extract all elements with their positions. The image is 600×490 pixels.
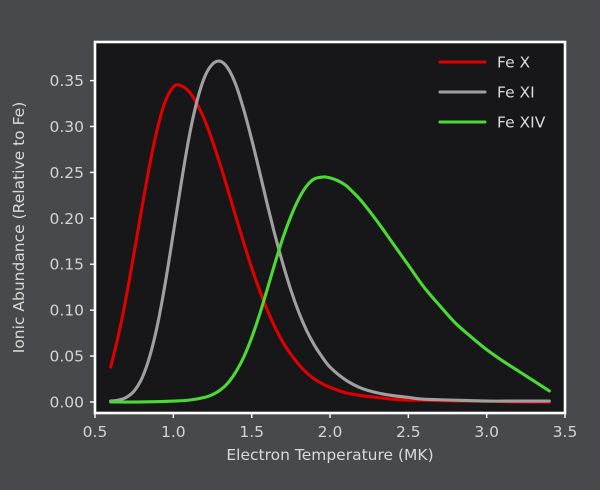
chart-figure: 0.51.01.52.02.53.03.50.000.050.100.150.2…: [0, 0, 600, 490]
x-axis-title: Electron Temperature (MK): [226, 446, 433, 464]
legend-label-fe-xi[interactable]: Fe XI: [497, 84, 535, 102]
y-tick-label: 0.15: [49, 256, 84, 274]
x-tick-label: 3.5: [553, 423, 578, 441]
x-tick-label: 3.0: [474, 423, 499, 441]
y-axis-title: Ionic Abundance (Relative to Fe): [10, 102, 28, 354]
x-tick-label: 1.0: [161, 423, 186, 441]
legend-label-fe-x[interactable]: Fe X: [497, 54, 531, 72]
x-tick-label: 2.5: [396, 423, 421, 441]
x-tick-label: 2.0: [318, 423, 343, 441]
legend-label-fe-xiv[interactable]: Fe XIV: [497, 114, 546, 132]
y-tick-label: 0.05: [49, 348, 84, 366]
y-tick-label: 0.20: [49, 210, 84, 228]
y-tick-label: 0.35: [49, 72, 84, 90]
y-tick-label: 0.30: [49, 118, 84, 136]
y-tick-label: 0.25: [49, 164, 84, 182]
y-tick-label: 0.00: [49, 393, 84, 411]
y-tick-label: 0.10: [49, 302, 84, 320]
x-tick-label: 1.5: [239, 423, 264, 441]
x-tick-label: 0.5: [83, 423, 108, 441]
line-chart[interactable]: 0.51.01.52.02.53.03.50.000.050.100.150.2…: [0, 0, 600, 490]
